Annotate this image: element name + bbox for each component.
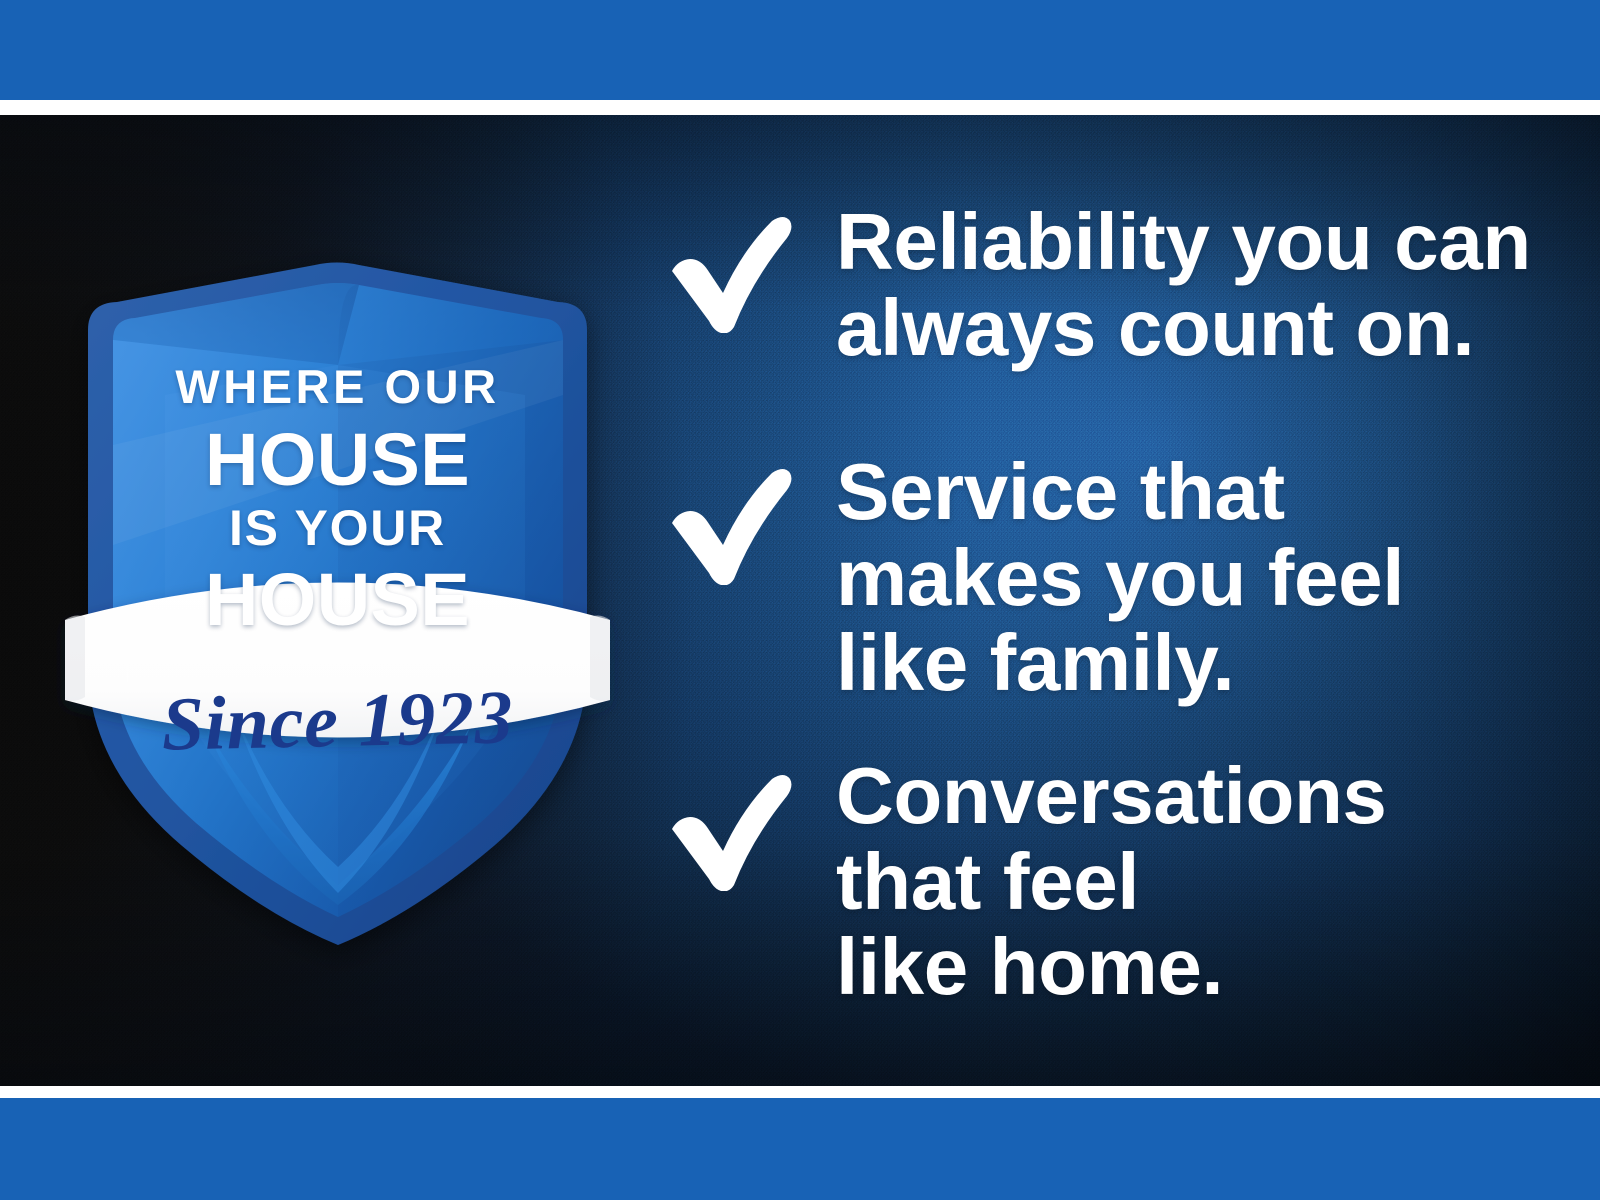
checkmark-icon <box>660 213 795 333</box>
top-brand-bar <box>0 0 1600 100</box>
badge-line-where-our: WHERE OUR <box>55 363 620 410</box>
bottom-brand-bar <box>0 1098 1600 1200</box>
benefit-2-line-1: Service that <box>836 449 1560 535</box>
benefits-list: Reliability you can always count on. Ser… <box>660 195 1560 1045</box>
top-divider <box>0 100 1600 115</box>
benefit-3-line-1: Conversations <box>836 753 1560 839</box>
benefit-3-line-3: like home. <box>836 924 1560 1010</box>
badge-line-is-your: IS YOUR <box>55 503 620 553</box>
benefit-1-line-2: always count on. <box>836 285 1560 371</box>
benefit-2-line-3: like family. <box>836 620 1560 706</box>
benefit-item-1: Reliability you can always count on. <box>660 195 1560 445</box>
checkmark-icon <box>660 771 795 891</box>
badge-ribbon-since-1923: Since 1923 <box>54 677 620 765</box>
badge-line-house-2: HOUSE <box>55 563 620 637</box>
benefit-item-3: Conversations that feel like home. <box>660 745 1560 1045</box>
benefit-item-2: Service that makes you feel like family. <box>660 445 1560 745</box>
promo-poster: WHERE OUR HOUSE IS YOUR HOUSE Since 1923… <box>0 0 1600 1200</box>
bottom-divider <box>0 1086 1600 1098</box>
benefit-2-line-2: makes you feel <box>836 535 1560 621</box>
benefit-text-3: Conversations that feel like home. <box>836 745 1560 1010</box>
shield-badge: WHERE OUR HOUSE IS YOUR HOUSE Since 1923 <box>55 245 620 945</box>
benefit-text-1: Reliability you can always count on. <box>836 195 1560 370</box>
badge-line-house-1: HOUSE <box>55 423 620 497</box>
poster-stage: WHERE OUR HOUSE IS YOUR HOUSE Since 1923… <box>0 115 1600 1086</box>
benefit-text-2: Service that makes you feel like family. <box>836 445 1560 706</box>
benefit-3-line-2: that feel <box>836 839 1560 925</box>
benefit-1-line-1: Reliability you can <box>836 199 1560 285</box>
checkmark-icon <box>660 465 795 585</box>
